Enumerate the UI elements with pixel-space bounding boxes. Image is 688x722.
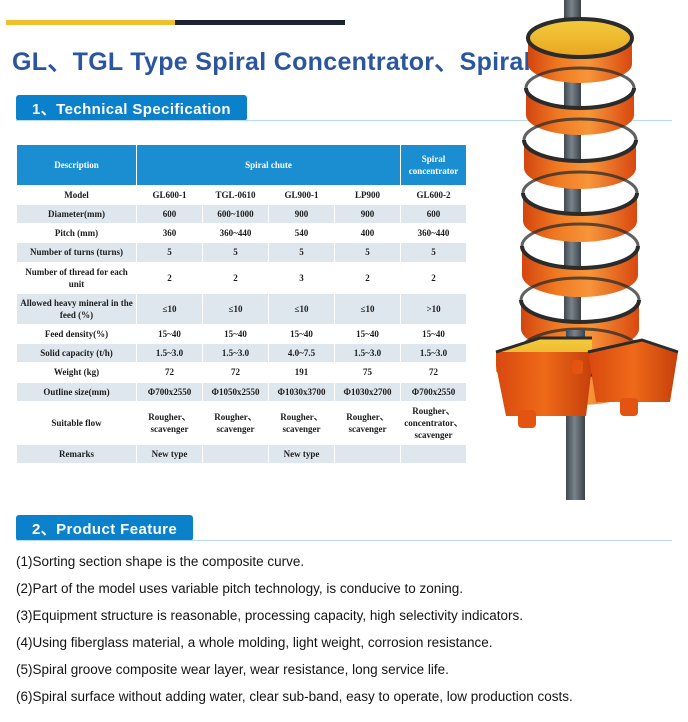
feature-item: (4)Using fiberglass material, a whole mo… [16,629,686,656]
feature-item: (3)Equipment structure is reasonable, pr… [16,602,686,629]
rule-dark [175,20,345,25]
table-cell [203,445,269,464]
table-cell: 15~40 [401,325,467,344]
table-cell: 72 [401,363,467,382]
table-row-label: Suitable flow [17,401,137,444]
table-cell: 2 [335,262,401,293]
feature-item: (5)Spiral groove composite wear layer, w… [16,656,686,683]
table-header-description: Description [17,145,137,186]
table-cell: 1.5~3.0 [401,344,467,363]
table-cell: 5 [203,243,269,262]
table-row-label: Pitch (mm) [17,224,137,243]
table-cell: Rougher、scavenger [203,401,269,444]
table-cell: Φ1050x2550 [203,382,269,401]
table-row: Pitch (mm)360360~440540400360~440 [17,224,467,243]
table-row-label: Number of turns (turns) [17,243,137,262]
section-header-product-feature: 2、Product Feature [16,515,672,541]
table-cell: 5 [335,243,401,262]
table-cell: 600 [401,205,467,224]
table-cell: 5 [269,243,335,262]
feature-item: (6)Spiral surface without adding water, … [16,683,686,710]
table-row-label: Remarks [17,445,137,464]
table-cell: Φ700x2550 [137,382,203,401]
table-row: Allowed heavy mineral in the feed (%)≤10… [17,293,467,324]
table-cell: 5 [401,243,467,262]
discharge-boxes [496,338,678,428]
table-row-label: Number of thread for each unit [17,262,137,293]
table-header-spiral-chute: Spiral chute [137,145,401,186]
table-cell: Φ700x2550 [401,382,467,401]
table-row: Feed density(%)15~4015~4015~4015~4015~40 [17,325,467,344]
table-cell: 360 [137,224,203,243]
table-cell: 600 [137,205,203,224]
table-cell: Φ1030x2700 [335,382,401,401]
table-cell: 5 [137,243,203,262]
table-cell: 2 [401,262,467,293]
table-cell: ≤10 [269,293,335,324]
table-cell: ≤10 [137,293,203,324]
table-body: ModelGL600-1TGL-0610GL900-1LP900GL600-2D… [17,186,467,464]
table-cell: LP900 [335,186,401,205]
table-cell: 900 [335,205,401,224]
table-row: Number of turns (turns)55555 [17,243,467,262]
feature-item: (2)Part of the model uses variable pitch… [16,575,686,602]
table-row-label: Solid capacity (t/h) [17,344,137,363]
table-row: Suitable flowRougher、scavengerRougher、sc… [17,401,467,444]
table-cell: Rougher、concentrator、scavenger [401,401,467,444]
table-row: Solid capacity (t/h)1.5~3.01.5~3.04.0~7.… [17,344,467,363]
table-cell: 2 [137,262,203,293]
table-row-label: Allowed heavy mineral in the feed (%) [17,293,137,324]
table-cell: ≤10 [335,293,401,324]
table-row-label: Weight (kg) [17,363,137,382]
spiral-concentrator-photo [470,0,688,500]
table-cell: TGL-0610 [203,186,269,205]
table-cell: 2 [203,262,269,293]
top-decorative-rules [6,20,345,25]
table-cell: 191 [269,363,335,382]
table-header-row: Description Spiral chute Spiral concentr… [17,145,467,186]
table-row: Diameter(mm)600600~1000900900600 [17,205,467,224]
table-cell: 75 [335,363,401,382]
table-row: Number of thread for each unit22322 [17,262,467,293]
table-cell: 3 [269,262,335,293]
table-cell: Rougher、scavenger [269,401,335,444]
section-badge-technical-specification: 1、Technical Specification [16,95,247,121]
table-row: Outline size(mm)Φ700x2550Φ1050x2550Φ1030… [17,382,467,401]
table-cell: GL900-1 [269,186,335,205]
table-cell: 1.5~3.0 [203,344,269,363]
technical-specification-table: Description Spiral chute Spiral concentr… [16,144,467,464]
table-row: Weight (kg)72721917572 [17,363,467,382]
table-cell: Rougher、scavenger [137,401,203,444]
table-cell: 72 [137,363,203,382]
table-cell: Rougher、scavenger [335,401,401,444]
table-cell: 360~440 [401,224,467,243]
table-cell: 15~40 [335,325,401,344]
table-cell: New type [269,445,335,464]
table-cell: 72 [203,363,269,382]
table-cell: 360~440 [203,224,269,243]
table-cell: 15~40 [203,325,269,344]
table-row-label: Outline size(mm) [17,382,137,401]
table-cell: 540 [269,224,335,243]
section-badge-product-feature: 2、Product Feature [16,515,193,541]
table-cell: 900 [269,205,335,224]
table-row-label: Model [17,186,137,205]
table-header: Description Spiral chute Spiral concentr… [17,145,467,186]
table-cell: 15~40 [269,325,335,344]
table-cell: ≤10 [203,293,269,324]
table-cell: 15~40 [137,325,203,344]
table-row: RemarksNew typeNew type [17,445,467,464]
table-cell: 600~1000 [203,205,269,224]
feature-item: (1)Sorting section shape is the composit… [16,548,686,575]
table-cell [335,445,401,464]
table-row: ModelGL600-1TGL-0610GL900-1LP900GL600-2 [17,186,467,205]
rule-yellow [6,20,175,25]
section-underline-feature [16,540,672,541]
table-cell [401,445,467,464]
table-cell: GL600-1 [137,186,203,205]
product-feature-list: (1)Sorting section shape is the composit… [16,548,686,710]
table-cell: 1.5~3.0 [137,344,203,363]
table-cell: 400 [335,224,401,243]
page-title: GL、TGL Type Spiral Concentrator、Spiral [12,42,512,78]
table-cell: Φ1030x3700 [269,382,335,401]
table-cell: >10 [401,293,467,324]
table-header-spiral-concentrator: Spiral concentrator [401,145,467,186]
table-row-label: Diameter(mm) [17,205,137,224]
table-cell: 4.0~7.5 [269,344,335,363]
table-cell: GL600-2 [401,186,467,205]
table-row-label: Feed density(%) [17,325,137,344]
table-cell: New type [137,445,203,464]
table-cell: 1.5~3.0 [335,344,401,363]
